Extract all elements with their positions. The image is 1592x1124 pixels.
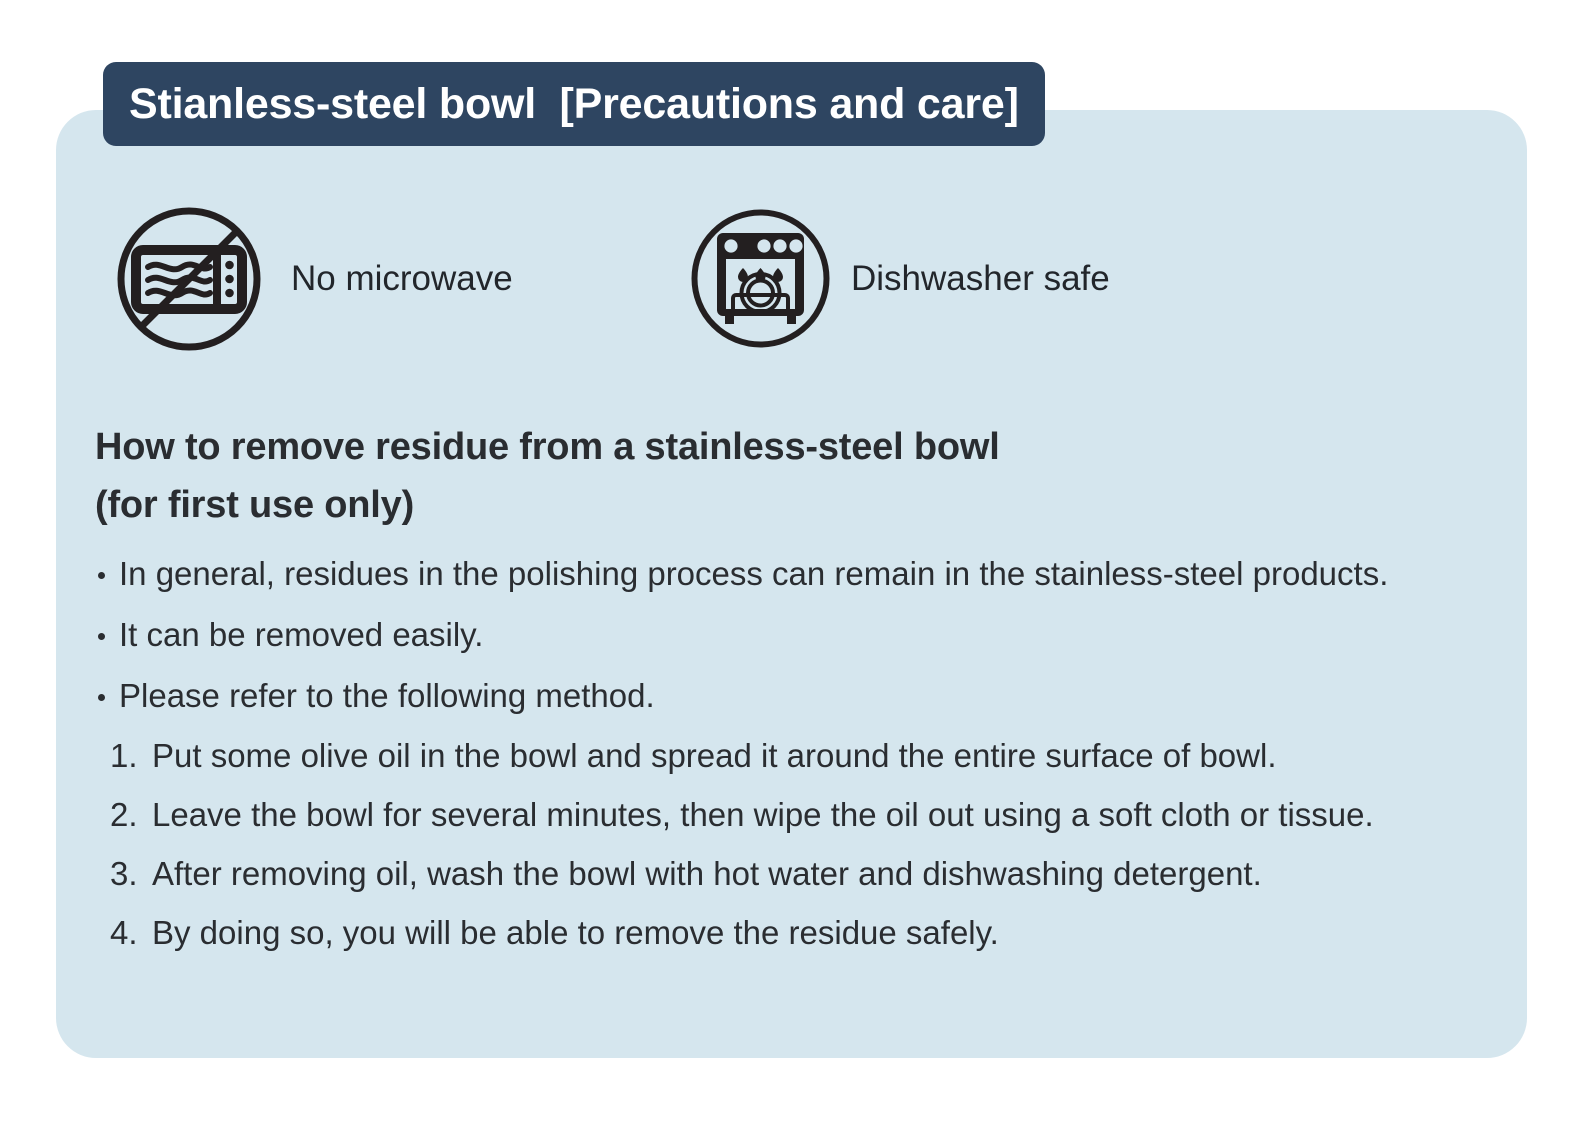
icon-row: No microwave [113,196,1413,361]
no-microwave-item: No microwave [113,196,513,361]
dishwasher-safe-icon [688,206,833,351]
list-item: Please refer to the following method. [95,665,1515,726]
step-number: 4. [110,903,138,962]
page-title: Stianless-steel bowl [Precautions and ca… [129,83,1019,126]
step-text: Leave the bowl for several minutes, then… [152,796,1374,833]
howto-heading-line1: How to remove residue from a stainless-s… [95,418,1515,476]
list-item: 4. By doing so, you will be able to remo… [110,903,1515,962]
step-number: 1. [110,726,138,785]
step-text: Put some olive oil in the bowl and sprea… [152,737,1276,774]
step-text: After removing oil, wash the bowl with h… [152,855,1262,892]
step-number: 3. [110,844,138,903]
notes-bullet-list: In general, residues in the polishing pr… [95,543,1515,726]
no-microwave-label: No microwave [291,261,513,296]
dishwasher-safe-item: Dishwasher safe [688,196,1110,361]
list-item: In general, residues in the polishing pr… [95,543,1515,604]
no-microwave-icon [113,203,265,355]
method-steps-list: 1. Put some olive oil in the bowl and sp… [95,726,1515,962]
list-item: 1. Put some olive oil in the bowl and sp… [110,726,1515,785]
step-text: By doing so, you will be able to remove … [152,914,999,951]
step-number: 2. [110,785,138,844]
section-title-bar: Stianless-steel bowl [Precautions and ca… [103,62,1045,146]
instructions-block: How to remove residue from a stainless-s… [95,418,1515,962]
list-item: It can be removed easily. [95,604,1515,665]
howto-heading-line2: (for first use only) [95,476,1515,534]
list-item: 2. Leave the bowl for several minutes, t… [110,785,1515,844]
precautions-panel: No microwave [56,110,1527,1058]
list-item: 3. After removing oil, wash the bowl wit… [110,844,1515,903]
dishwasher-safe-label: Dishwasher safe [851,261,1110,296]
